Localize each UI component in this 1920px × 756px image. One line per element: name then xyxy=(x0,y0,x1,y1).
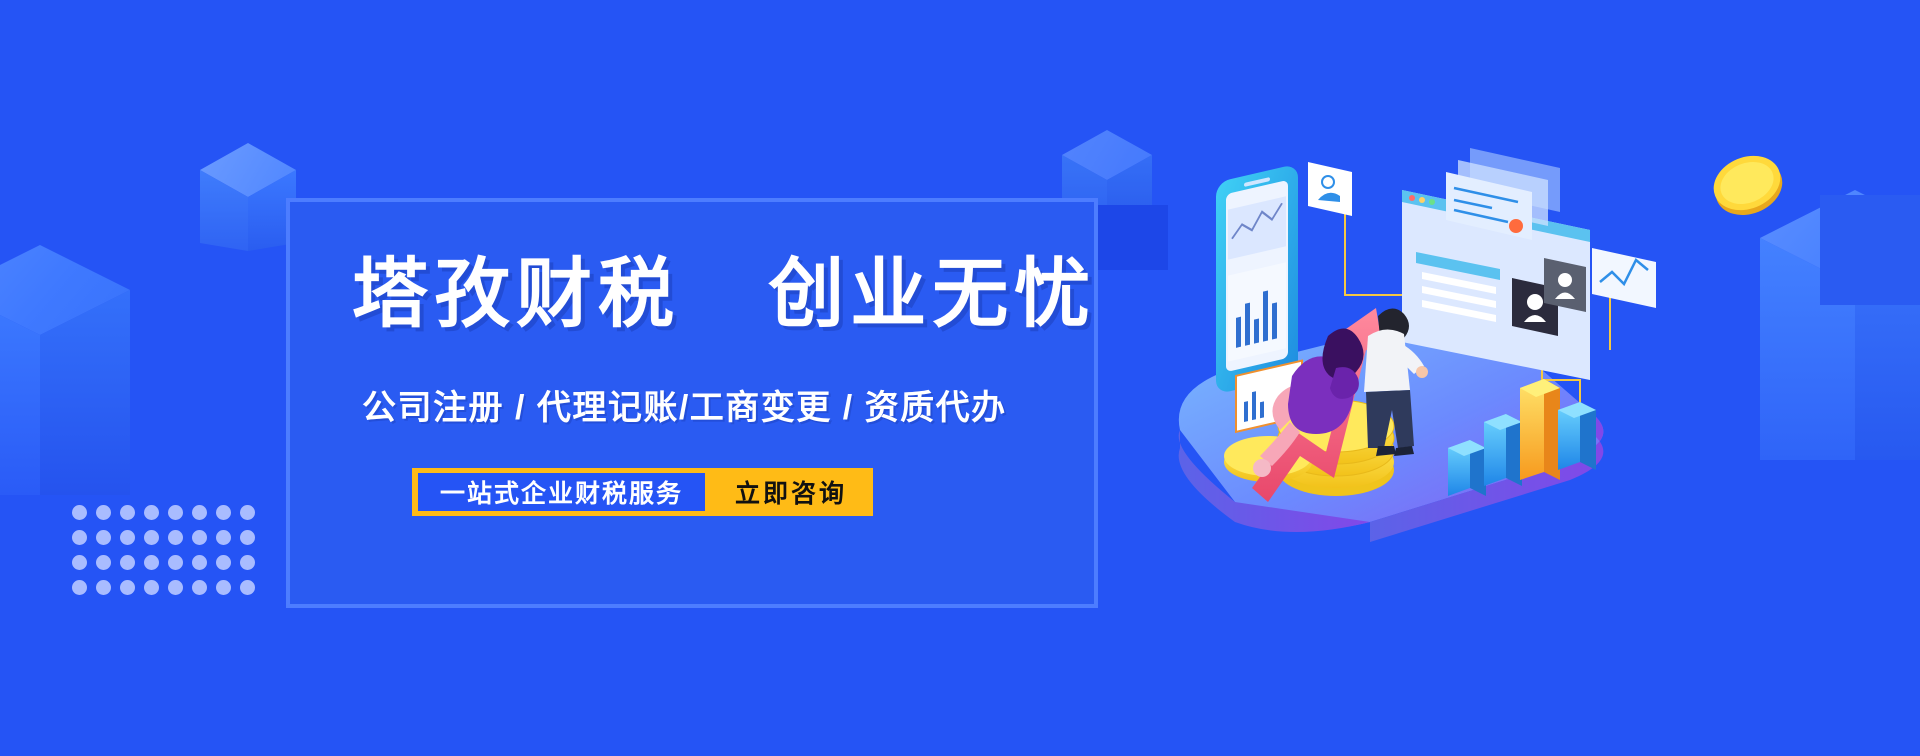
headline-main: 塔孜财税 xyxy=(352,252,680,337)
bar-4 xyxy=(1558,402,1596,470)
promo-banner: 塔孜财税 创业无忧 公司注册 / 代理记账/工商变更 / 资质代办 一站式企业财… xyxy=(0,0,1920,756)
isometric-fintech-illustration xyxy=(1140,130,1660,550)
cta-row: 一站式企业财税服务 立即咨询 xyxy=(412,468,873,516)
page-title: 塔孜财税 创业无忧 xyxy=(352,254,1096,336)
line-chart-card xyxy=(1592,248,1656,308)
cta-tag-label: 一站式企业财税服务 xyxy=(418,473,705,511)
iso-tower-icon xyxy=(0,245,130,495)
profile-card xyxy=(1308,162,1352,216)
services-line: 公司注册 / 代理记账/工商变更 / 资质代办 xyxy=(362,380,1007,429)
iso-tower-icon xyxy=(1760,190,1920,460)
headline-card: 塔孜财税 创业无忧 公司注册 / 代理记账/工商变更 / 资质代办 一站式企业财… xyxy=(286,198,1098,608)
headline-card-inner: 塔孜财税 创业无忧 公司注册 / 代理记账/工商变更 / 资质代办 一站式企业财… xyxy=(306,218,1078,588)
consult-now-button[interactable]: 立即咨询 xyxy=(705,468,873,516)
bar-3-highlight xyxy=(1520,379,1560,480)
gold-coin-icon xyxy=(1691,127,1803,239)
dot-grid-pattern xyxy=(72,500,264,600)
bar-2 xyxy=(1484,414,1522,486)
smartphone-with-charts xyxy=(1216,164,1298,395)
iso-cube-icon xyxy=(200,143,296,251)
decor-square xyxy=(1820,195,1920,305)
bar-1 xyxy=(1448,440,1486,496)
headline-sub: 创业无忧 xyxy=(768,252,1096,337)
